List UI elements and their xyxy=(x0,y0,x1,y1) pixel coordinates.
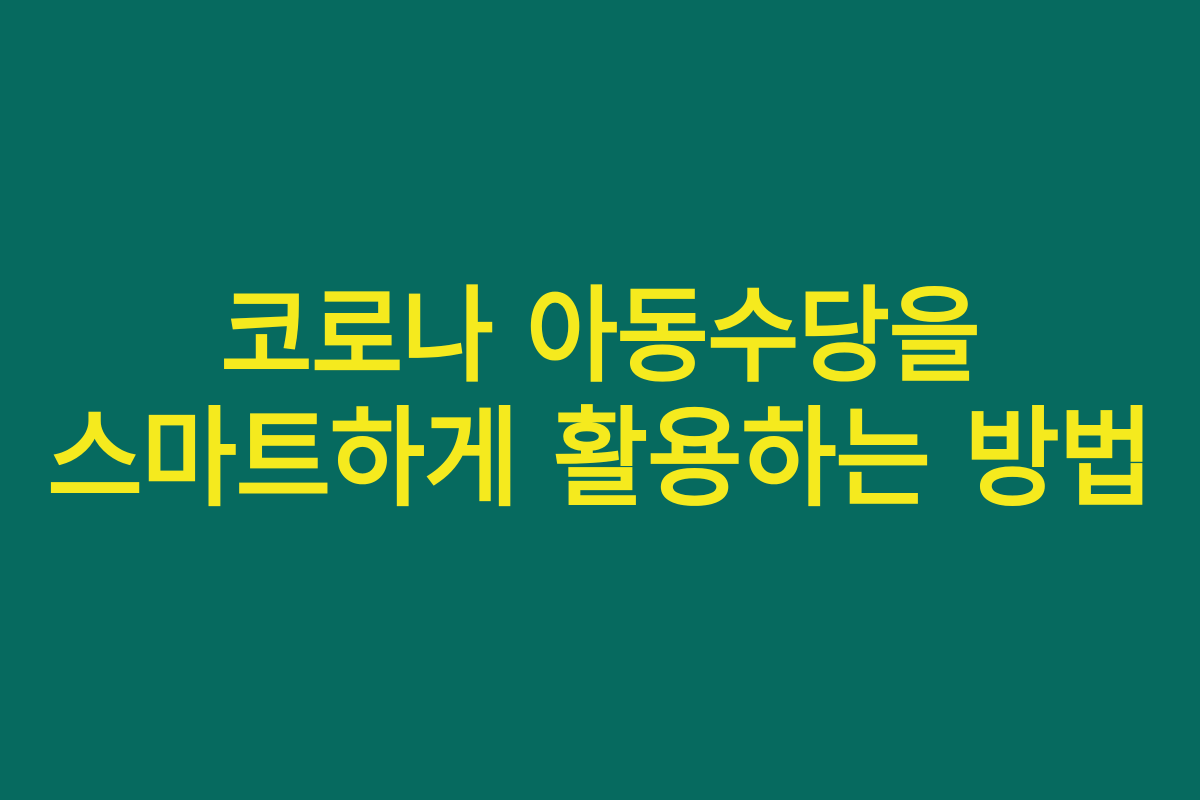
headline-line-2: 스마트하게 활용하는 방법 xyxy=(24,397,1176,522)
headline-block: 코로나 아동수당을 스마트하게 활용하는 방법 xyxy=(0,276,1200,522)
headline-line-1: 코로나 아동수당을 xyxy=(24,276,1176,397)
banner-canvas: 코로나 아동수당을 스마트하게 활용하는 방법 xyxy=(0,0,1200,800)
